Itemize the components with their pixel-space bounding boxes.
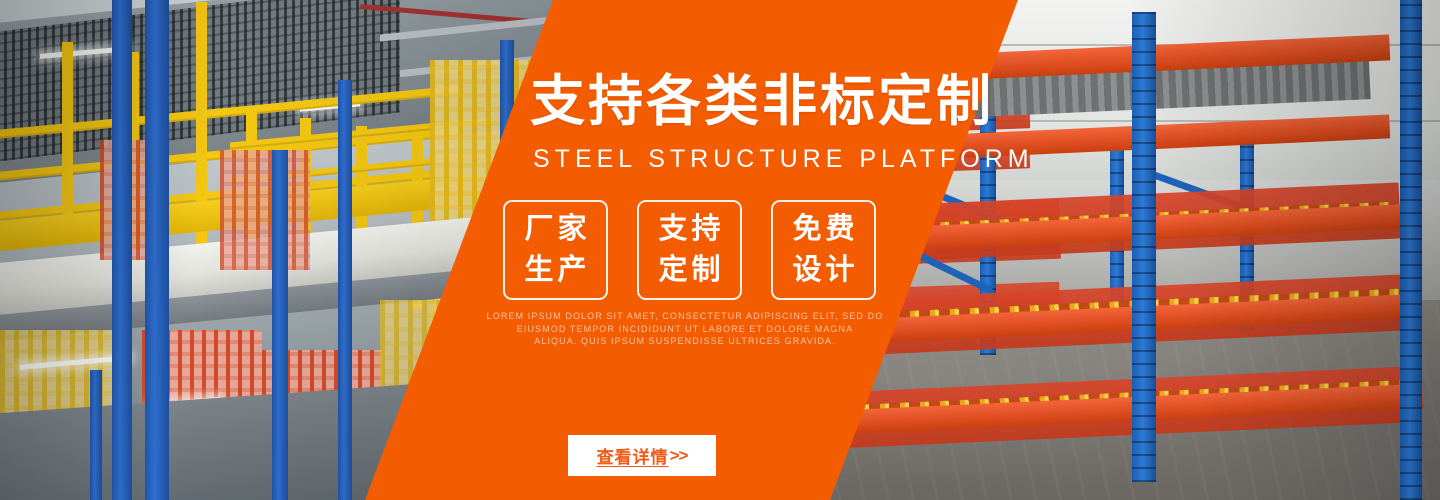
feature-badge-list: 厂家 生产 支持 定制 免费 设计 <box>503 200 876 300</box>
feature-badge-factory-production: 厂家 生产 <box>503 200 608 300</box>
double-chevron-right-icon: >> <box>670 446 688 466</box>
badge-line-2: 生产 <box>520 250 590 291</box>
page-title: 支持各类非标定制 <box>530 72 970 131</box>
description-line-2: eiusmod tempor incididunt ut labore et d… <box>455 323 915 336</box>
badge-line-1: 免费 <box>788 209 858 250</box>
view-details-label: 查看详情 <box>597 443 669 468</box>
description-line-1: Lorem ipsum dolor sit amet, consectetur … <box>455 310 915 323</box>
feature-badge-free-design: 免费 设计 <box>771 200 876 300</box>
badge-line-2: 定制 <box>654 250 724 291</box>
promo-banner: 支持各类非标定制 STEEL STRUCTURE PLATFORM 厂家 生产 … <box>0 0 1440 500</box>
badge-line-2: 设计 <box>788 250 858 291</box>
view-details-button[interactable]: 查看详情 >> <box>568 435 716 476</box>
subtitle: STEEL STRUCTURE PLATFORM <box>533 145 1034 174</box>
banner-content: 支持各类非标定制 STEEL STRUCTURE PLATFORM 厂家 生产 … <box>0 0 1440 500</box>
badge-line-1: 支持 <box>654 209 724 250</box>
description-line-3: aliqua. Quis ipsum suspendisse ultrices … <box>455 335 915 348</box>
badge-line-1: 厂家 <box>520 209 590 250</box>
description-text: Lorem ipsum dolor sit amet, consectetur … <box>455 310 915 348</box>
feature-badge-custom-support: 支持 定制 <box>637 200 742 300</box>
